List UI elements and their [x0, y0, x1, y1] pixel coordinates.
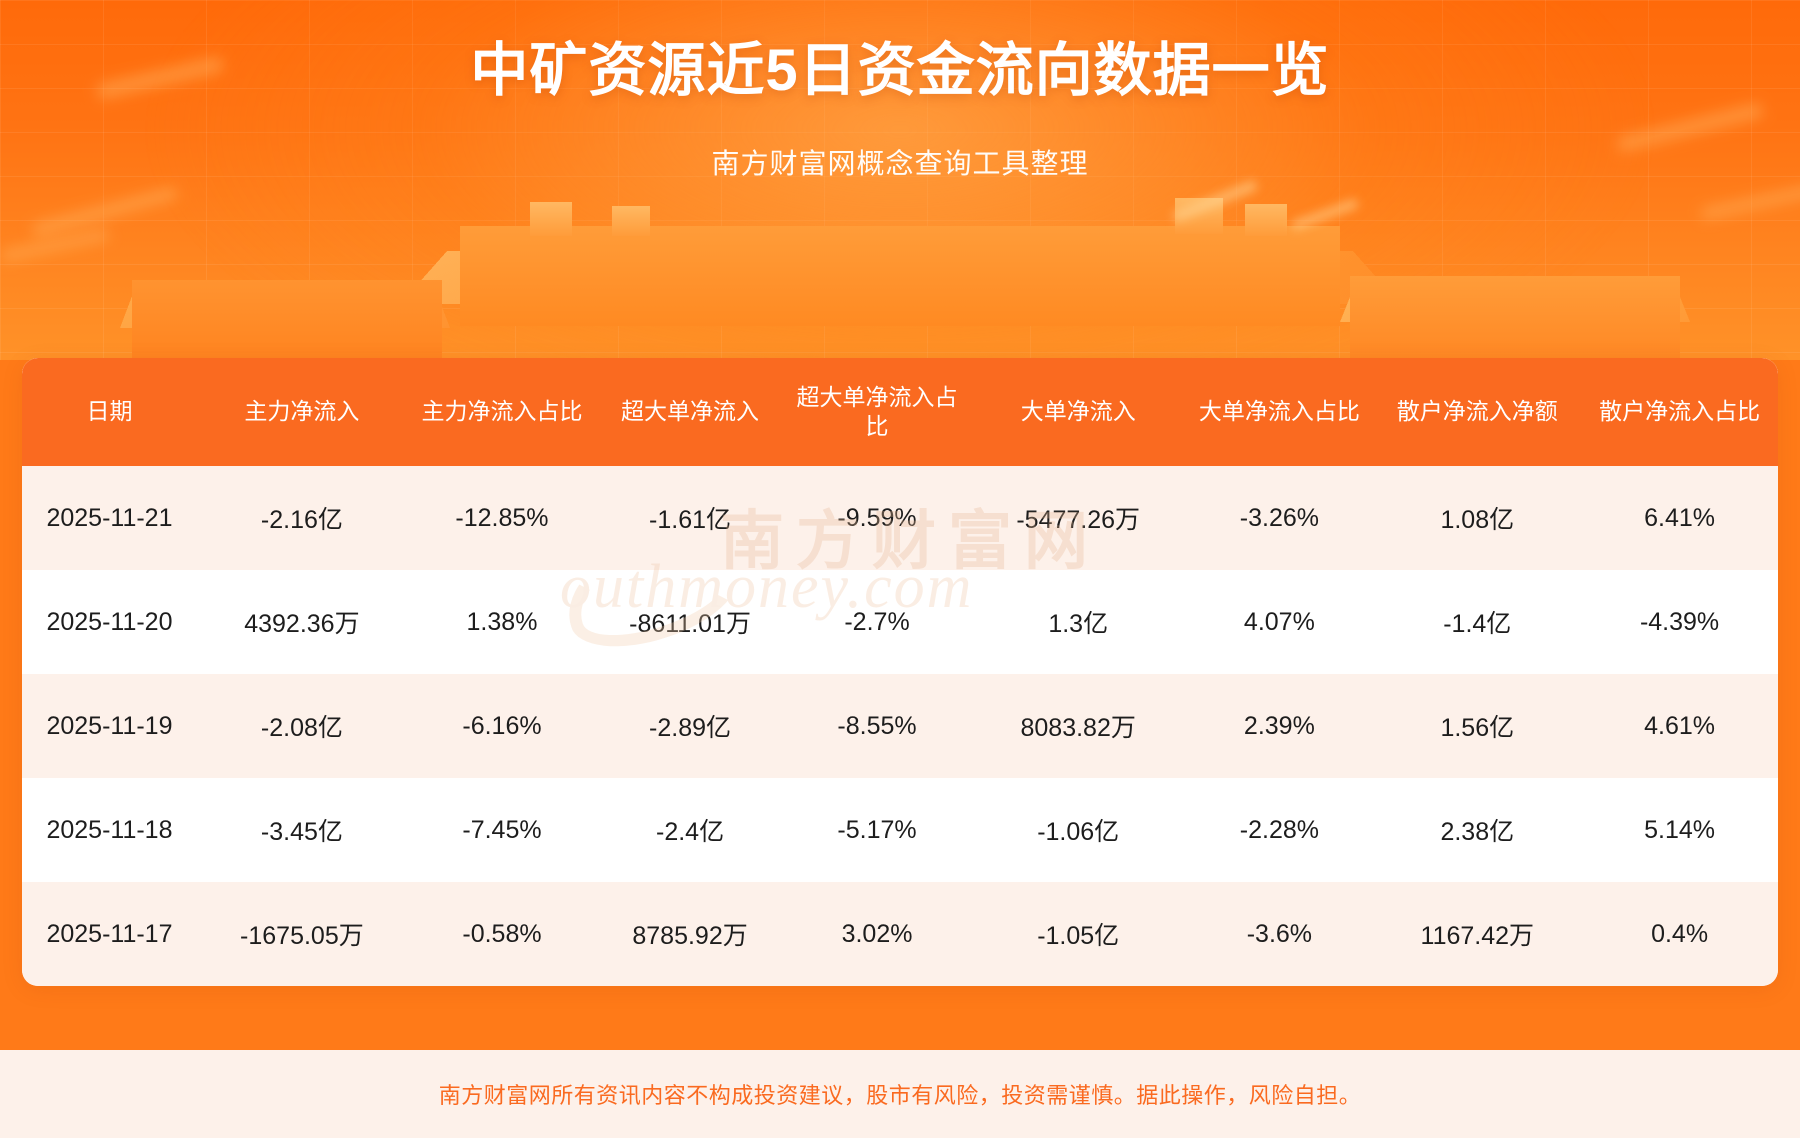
podium-right-body [1350, 276, 1680, 360]
column-header-retail-net-pct: 散户净流入占比 [1581, 358, 1778, 466]
column-header-lg-net-inflow: 大单净流入 [971, 358, 1185, 466]
table-row: 2025-11-204392.36万1.38%-8611.01万-2.7%1.3… [22, 570, 1778, 674]
table-cell: -1.06亿 [971, 778, 1185, 882]
cell-date: 2025-11-18 [22, 778, 197, 882]
table-cell: 5.14% [1581, 778, 1778, 882]
table-cell: -8.55% [783, 674, 971, 778]
table-cell: 4.61% [1581, 674, 1778, 778]
table-cell: -9.59% [783, 466, 971, 570]
table-cell: -1.4亿 [1373, 570, 1581, 674]
podium-riser [612, 206, 650, 236]
table-cell: 1.38% [407, 570, 597, 674]
column-header-main-net-inflow-pct: 主力净流入占比 [407, 358, 597, 466]
table-row: 2025-11-21-2.16亿-12.85%-1.61亿-9.59%-5477… [22, 466, 1778, 570]
table-cell: -5477.26万 [971, 466, 1185, 570]
table-cell: -6.16% [407, 674, 597, 778]
table-body: 2025-11-21-2.16亿-12.85%-1.61亿-9.59%-5477… [22, 466, 1778, 986]
page-title: 中矿资源近5日资金流向数据一览 [0, 38, 1800, 105]
cell-date: 2025-11-19 [22, 674, 197, 778]
table-cell: -12.85% [407, 466, 597, 570]
table-cell: -3.45亿 [197, 778, 407, 882]
table-cell: -7.45% [407, 778, 597, 882]
table-header: 日期 主力净流入 主力净流入占比 超大单净流入 超大单净流入占比 大单净流入 大… [22, 358, 1778, 466]
table-cell: -1.61亿 [597, 466, 783, 570]
page-subtitle: 南方财富网概念查询工具整理 [0, 142, 1800, 182]
table-cell: -0.58% [407, 882, 597, 986]
podium-graphic [0, 180, 1800, 360]
table-cell: -3.26% [1185, 466, 1373, 570]
table-cell: 3.02% [783, 882, 971, 986]
fund-flow-table: 日期 主力净流入 主力净流入占比 超大单净流入 超大单净流入占比 大单净流入 大… [22, 358, 1778, 986]
table-cell: 1.3亿 [971, 570, 1185, 674]
table-cell: -3.6% [1185, 882, 1373, 986]
table-row: 2025-11-17-1675.05万-0.58%8785.92万3.02%-1… [22, 882, 1778, 986]
table-cell: 2.38亿 [1373, 778, 1581, 882]
table-cell: -2.7% [783, 570, 971, 674]
table-cell: 2.39% [1185, 674, 1373, 778]
table-cell: -2.28% [1185, 778, 1373, 882]
footer-bar: 南方财富网所有资讯内容不构成投资建议，股市有风险，投资需谨慎。据此操作，风险自担… [0, 1050, 1800, 1138]
table-cell: 8785.92万 [597, 882, 783, 986]
cell-date: 2025-11-17 [22, 882, 197, 986]
column-header-main-net-inflow: 主力净流入 [197, 358, 407, 466]
column-header-lg-net-inflow-pct: 大单净流入占比 [1185, 358, 1373, 466]
table-row: 2025-11-18-3.45亿-7.45%-2.4亿-5.17%-1.06亿-… [22, 778, 1778, 882]
table-cell: 4.07% [1185, 570, 1373, 674]
table-cell: -2.89亿 [597, 674, 783, 778]
table-row: 2025-11-19-2.08亿-6.16%-2.89亿-8.55%8083.8… [22, 674, 1778, 778]
column-header-xl-net-inflow-pct: 超大单净流入占比 [783, 358, 971, 466]
table-cell: -1675.05万 [197, 882, 407, 986]
podium-riser [1245, 204, 1287, 236]
table-cell: 6.41% [1581, 466, 1778, 570]
table-cell: -2.08亿 [197, 674, 407, 778]
table-cell: -8611.01万 [597, 570, 783, 674]
data-table-card: 日期 主力净流入 主力净流入占比 超大单净流入 超大单净流入占比 大单净流入 大… [22, 358, 1778, 986]
column-header-retail-net-amount: 散户净流入净额 [1373, 358, 1581, 466]
cell-date: 2025-11-20 [22, 570, 197, 674]
podium-riser [530, 202, 572, 236]
table-cell: -5.17% [783, 778, 971, 882]
table-cell: -1.05亿 [971, 882, 1185, 986]
table-cell: 1.56亿 [1373, 674, 1581, 778]
podium-center-body [460, 226, 1340, 326]
table-cell: 1.08亿 [1373, 466, 1581, 570]
hero-banner: 中矿资源近5日资金流向数据一览 南方财富网概念查询工具整理 [0, 0, 1800, 360]
table-cell: 4392.36万 [197, 570, 407, 674]
table-cell: 8083.82万 [971, 674, 1185, 778]
cell-date: 2025-11-21 [22, 466, 197, 570]
column-header-xl-net-inflow: 超大单净流入 [597, 358, 783, 466]
footer-disclaimer: 南方财富网所有资讯内容不构成投资建议，股市有风险，投资需谨慎。据此操作，风险自担… [439, 1078, 1362, 1110]
table-cell: -2.4亿 [597, 778, 783, 882]
table-cell: 0.4% [1581, 882, 1778, 986]
podium-left-body [132, 280, 442, 360]
column-header-date: 日期 [22, 358, 197, 466]
table-header-row: 日期 主力净流入 主力净流入占比 超大单净流入 超大单净流入占比 大单净流入 大… [22, 358, 1778, 466]
table-cell: -2.16亿 [197, 466, 407, 570]
table-cell: -4.39% [1581, 570, 1778, 674]
table-cell: 1167.42万 [1373, 882, 1581, 986]
